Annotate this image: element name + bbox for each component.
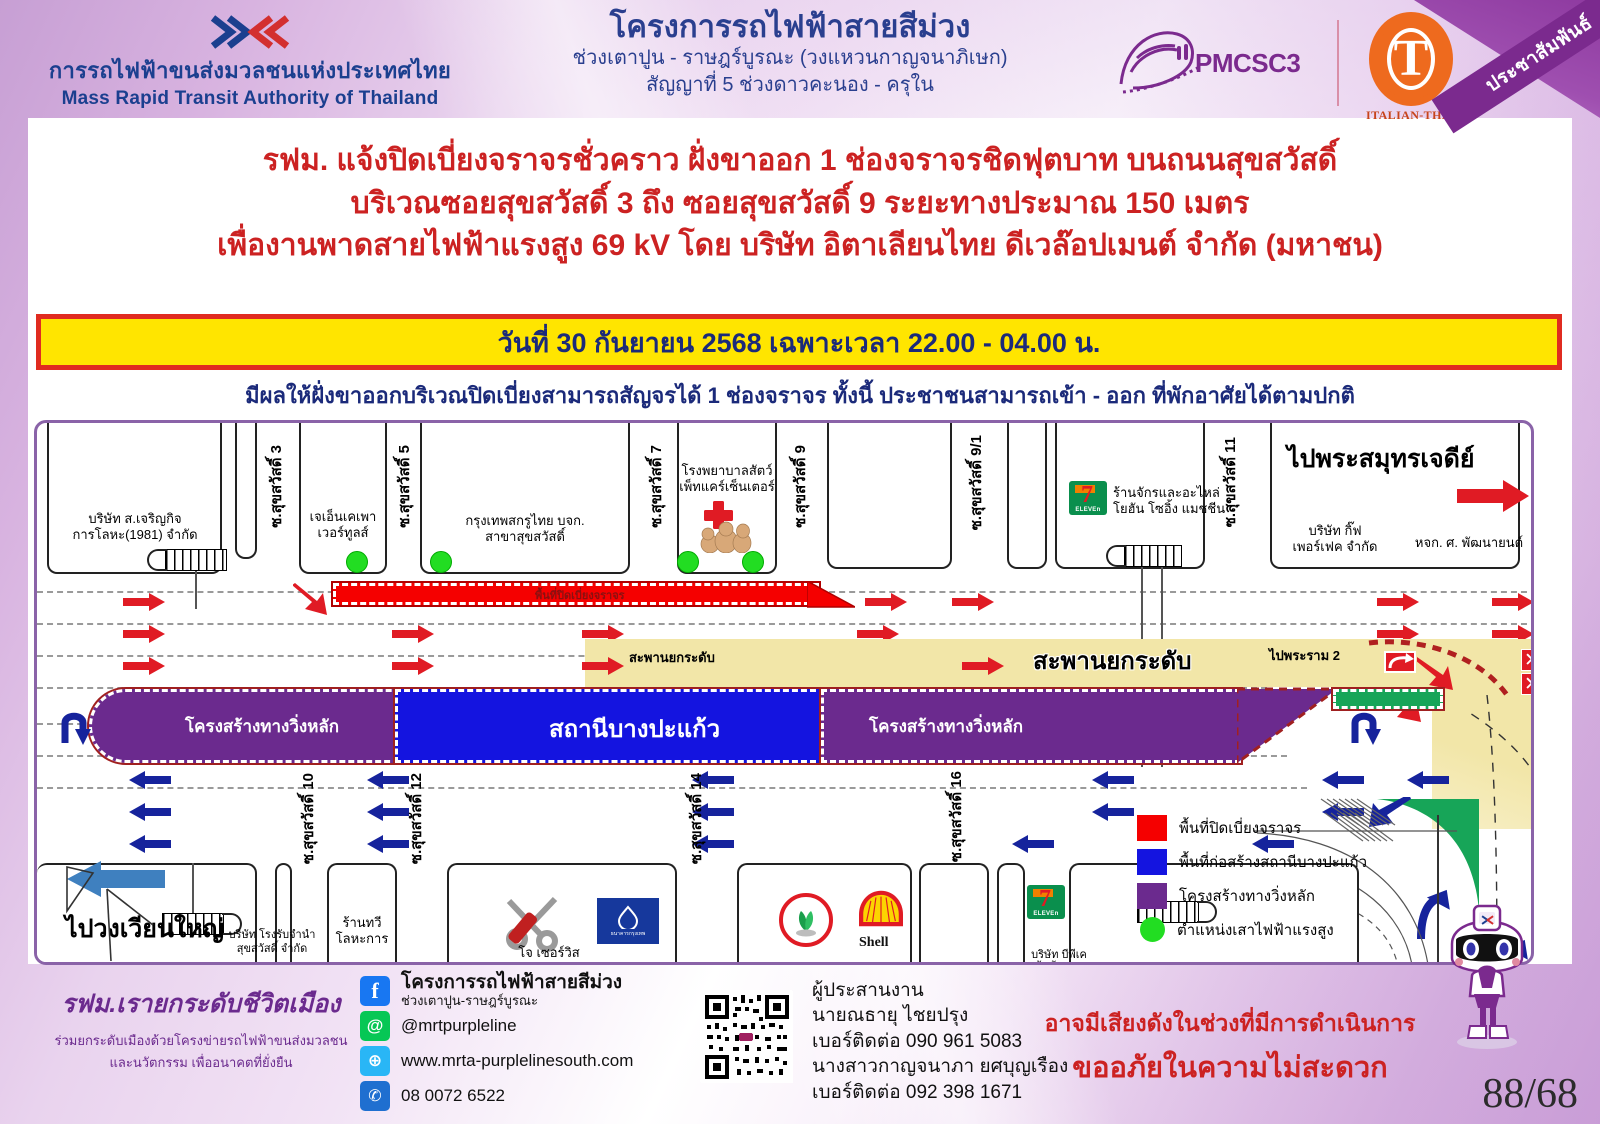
soi-label-bottom: ซ.สุขสวัสดิ์ 14 xyxy=(685,773,709,864)
date-banner: วันที่ 30 กันยายน 2568 เฉพาะเวลา 22.00 -… xyxy=(36,314,1562,370)
map-corner-lines xyxy=(53,863,263,965)
green-structure-band xyxy=(1333,689,1443,709)
mrta-name-th: การรถไฟฟ้าขนส่งมวลชนแห่งประเทศไทย xyxy=(40,53,460,88)
project-title: โครงการรถไฟฟ้าสายสีม่วง xyxy=(470,10,1110,45)
announcement-block: รฟม. แจ้งปิดเบี่ยงจราจรชั่วคราว ฝั่งขาออ… xyxy=(0,140,1600,268)
shop-label-top: หจก. ศ. พัฒนายนต์ xyxy=(1389,535,1534,551)
traffic-arrow-right xyxy=(123,625,165,643)
shop-label-top: โรงพยาบาลสัตว์ เพ็ทแคร์เซ็นเตอร์ xyxy=(669,463,785,496)
legend-swatch-power-pole xyxy=(1140,917,1165,942)
shop-label-bottom: ร้านทวี โลหะการ xyxy=(327,915,397,948)
project-section: ช่วงเตาปูน - ราษฎร์บูรณะ (วงแหวนกาญจนาภิ… xyxy=(470,45,1110,72)
soi-label-top: ซ.สุขสวัสดิ์ 3 xyxy=(265,445,289,528)
qr-code xyxy=(700,990,792,1082)
phone-text: 08 0072 6522 xyxy=(401,1086,505,1106)
shop-label-bottom: บริษัท บีพีเค พริ้นติ้ง จำกัด xyxy=(999,905,1119,965)
facebook-line-1: โครงการรถไฟฟ้าสายสีม่วง xyxy=(401,972,622,994)
pmcsc-logo-block: PMCSC3 xyxy=(1115,18,1330,108)
shop-label-top: ร้านจักรและอะไหล่ โยฮัน โซอิ้ง แมชชีน xyxy=(1113,485,1253,518)
soi-label-top: ซ.สุขสวัสดิ์ 5 xyxy=(393,445,417,528)
soi-label-bottom: ซ.สุขสวัสดิ์ 10 xyxy=(297,773,321,864)
apology-line-2: ขออภัยในความไม่สะดวก xyxy=(1030,1044,1430,1090)
facebook-icon: f xyxy=(360,976,390,1006)
header: การรถไฟฟ้าขนส่งมวลชนแห่งประเทศไทย Mass R… xyxy=(0,0,1600,124)
mrta-logo-block: การรถไฟฟ้าขนส่งมวลชนแห่งประเทศไทย Mass R… xyxy=(40,14,460,110)
soi-label-top: ซ.สุขสวัสดิ์ 7 xyxy=(645,445,669,528)
phone-icon: ✆ xyxy=(360,1081,390,1111)
legend-text: พื้นที่ปิดเบี่ยงจราจร xyxy=(1179,816,1301,840)
sub-note: มีผลให้ฝั่งขาออกบริเวณปิดเบี่ยงสามารถสัญ… xyxy=(0,378,1600,413)
line-text: @mrtpurpleline xyxy=(401,1016,517,1036)
traffic-arrow-right xyxy=(952,593,994,611)
shop-label-top: บริษัท ส.เจริญกิจ การโลหะ(1981) จำกัด xyxy=(55,511,215,544)
traffic-arrow-right xyxy=(962,657,1004,675)
mrta-name-en: Mass Rapid Transit Authority of Thailand xyxy=(40,88,460,110)
u-turn-arrow-icon xyxy=(1347,709,1381,747)
traffic-arrow-left xyxy=(1092,803,1134,821)
legend-text: ตำแหน่งเสาไฟฟ้าแรงสูง xyxy=(1177,918,1334,942)
traffic-arrow-right xyxy=(392,657,434,675)
shop-line-2: เพอร์เฟค จำกัด xyxy=(1275,539,1395,555)
fuel-station-sign-icon xyxy=(777,891,835,949)
legend-swatch-viaduct xyxy=(1137,883,1167,909)
traffic-arrow-left xyxy=(1012,835,1054,853)
parcel-bottom xyxy=(919,863,989,965)
slogan-sub-2: และนวัตกรรม เพื่ออนาคตที่ยั่งยืน xyxy=(36,1052,366,1074)
announcement-line-2: บริเวณซอยสุขสวัสดิ์ 3 ถึง ซอยสุขสวัสดิ์ … xyxy=(0,183,1600,226)
globe-icon: ⊕ xyxy=(360,1046,390,1076)
power-pole-marker xyxy=(677,551,699,573)
shop-line-2: การโลหะ(1981) จำกัด xyxy=(55,527,215,543)
traffic-arrow-right xyxy=(865,593,907,611)
traffic-arrow-left xyxy=(367,835,409,853)
soi-label-bottom: ซ.สุขสวัสดิ์ 16 xyxy=(945,771,969,862)
legend-text: พื้นที่ก่อสร้างสถานีบางปะแก้ว xyxy=(1179,850,1367,874)
parcel-top xyxy=(1007,420,1047,569)
closure-zone-label: พื้นที่ปิดเบี่ยงจราจร xyxy=(535,586,625,604)
legend-item: ตำแหน่งเสาไฟฟ้าแรงสูง xyxy=(1137,917,1367,942)
pmcsc-label: PMCSC3 xyxy=(1195,48,1300,79)
legend-text: โครงสร้างทางวิ่งหลัก xyxy=(1179,884,1315,908)
traffic-arrow-right xyxy=(1377,593,1419,611)
announcement-line-1: รฟม. แจ้งปิดเบี่ยงจราจรชั่วคราว ฝั่งขาออ… xyxy=(0,140,1600,183)
power-pole-marker xyxy=(742,551,764,573)
legend-item: พื้นที่ก่อสร้างสถานีบางปะแก้ว xyxy=(1137,849,1367,875)
shell-logo-icon xyxy=(855,889,907,933)
traffic-arrow-right xyxy=(123,657,165,675)
shop-line-2: เพ็ทแคร์เซ็นเตอร์ xyxy=(669,479,785,495)
veterinary-hospital-icon xyxy=(687,501,767,553)
soi-label-top: ซ.สุขสวัสดิ์ 9 xyxy=(789,445,813,528)
apology-block: อาจมีเสียงดังในช่วงที่มีการดำเนินการ ขออ… xyxy=(1030,1006,1430,1090)
shop-line-1: เจเอ็นเคเพา xyxy=(299,509,387,525)
traffic-arrow-left xyxy=(367,803,409,821)
shop-line-1: โรงพยาบาลสัตว์ xyxy=(669,463,785,479)
shop-line-2: โยฮัน โซอิ้ง แมชชีน xyxy=(1113,501,1253,517)
mascot-icon xyxy=(1434,892,1540,1052)
shop-line-2: โลหะการ xyxy=(327,931,397,947)
itd-letter: T xyxy=(1394,33,1429,85)
crosswalk-stem xyxy=(195,571,197,609)
lane-line xyxy=(37,623,1534,625)
viaduct-label-left: โครงสร้างทางวิ่งหลัก xyxy=(185,713,339,740)
map-canvas: ซ.สุขสวัสดิ์ 3 ซ.สุขสวัสดิ์ 5 ซ.สุขสวัสด… xyxy=(37,423,1531,962)
station-label: สถานีบางปะแก้ว xyxy=(549,709,720,748)
social-row-line[interactable]: @ @mrtpurpleline xyxy=(360,1009,690,1042)
crosswalk-ramp xyxy=(1106,545,1126,567)
mrta-logo-icon xyxy=(40,14,460,50)
bangkok-bank-icon: ธนาคารกรุงเทพ xyxy=(597,898,659,944)
power-pole-marker xyxy=(346,551,368,573)
soi-label-bottom: ซ.สุขสวัสดิ์ 12 xyxy=(405,773,429,864)
shop-line-1: โจ เซอร์วิส xyxy=(509,945,589,961)
line-icon: @ xyxy=(360,1011,390,1041)
shop-line-1: บริษัท ส.เจริญกิจ xyxy=(55,511,215,527)
shop-label-top: บริษัท กิ๊ฟ เพอร์เฟค จำกัด xyxy=(1275,523,1395,556)
traffic-arrow-right xyxy=(123,593,165,611)
page-number: 88/68 xyxy=(1482,1070,1578,1118)
traffic-arrow-left xyxy=(1407,771,1449,789)
bridge-label: สะพานยกระดับ xyxy=(1033,641,1191,680)
shop-line-2: เวอร์ทูลส์ xyxy=(299,525,387,541)
project-title-block: โครงการรถไฟฟ้าสายสีม่วง ช่วงเตาปูน - ราษ… xyxy=(470,10,1110,99)
social-row-facebook[interactable]: f โครงการรถไฟฟ้าสายสีม่วง ช่วงเตาปูน-ราษ… xyxy=(360,974,690,1007)
legend-item: โครงสร้างทางวิ่งหลัก xyxy=(1137,883,1367,909)
traffic-arrow-right xyxy=(392,625,434,643)
social-row-website[interactable]: ⊕ www.mrta-purplelinesouth.com xyxy=(360,1044,690,1077)
parcel-top xyxy=(827,420,952,569)
viaduct-label-right: โครงสร้างทางวิ่งหลัก xyxy=(869,713,1023,740)
shop-line-2: พริ้นติ้ง จำกัด xyxy=(999,963,1119,965)
crosswalk-ramp xyxy=(147,549,167,571)
contact-title: ผู้ประสานงาน xyxy=(812,978,1068,1003)
seven-eleven-icon: 7ELEVEn xyxy=(1069,481,1107,515)
date-banner-text: วันที่ 30 กันยายน 2568 เฉพาะเวลา 22.00 -… xyxy=(498,321,1101,364)
facebook-text: โครงการรถไฟฟ้าสายสีม่วง ช่วงเตาปูน-ราษฎร… xyxy=(401,972,622,1009)
header-divider xyxy=(1337,20,1339,106)
shop-line-1: บริษัท กิ๊ฟ xyxy=(1275,523,1395,539)
map-legend: พื้นที่ปิดเบี่ยงจราจร พื้นที่ก่อสร้างสถา… xyxy=(1137,815,1367,950)
soi-3-gap xyxy=(235,420,257,559)
traffic-arrow-left xyxy=(1092,771,1134,789)
traffic-arrow-left xyxy=(1322,771,1364,789)
legend-swatch-station xyxy=(1137,849,1167,875)
shop-line-1: บริษัท บีพีเค xyxy=(999,949,1119,963)
shop-line-2: สาขาสุขสวัสดิ์ xyxy=(430,529,620,545)
power-pole-marker xyxy=(430,551,452,573)
website-text: www.mrta-purplelinesouth.com xyxy=(401,1051,633,1071)
bridge-label-small: สะพานยกระดับ xyxy=(629,647,715,668)
traffic-arrow-left xyxy=(129,771,171,789)
facebook-line-2: ช่วงเตาปูน-ราษฎร์บูรณะ xyxy=(401,994,622,1009)
rama2-destination-label: ไปพระราม 2 xyxy=(1269,645,1340,666)
apology-line-1: อาจมีเสียงดังในช่วงที่มีการดำเนินการ xyxy=(1030,1006,1430,1042)
announcement-line-3: เพื่องานพาดสายไฟฟ้าแรงสูง 69 kV โดย บริษ… xyxy=(0,225,1600,268)
traffic-arrow-right xyxy=(582,657,624,675)
shop-line-1: กรุงเทพสกรูไทย บจก. xyxy=(430,513,620,529)
shop-label-top: กรุงเทพสกรูไทย บจก. สาขาสุขสวัสดิ์ xyxy=(430,513,620,546)
crosswalk-icon xyxy=(165,549,227,571)
destination-right-label: ไปพระสมุทรเจดีย์ xyxy=(1287,439,1475,479)
slogan-block: รฟม.เรายกระดับชีวิตเมือง ร่วมยกระดับเมือ… xyxy=(36,984,366,1074)
bank-label: ธนาคารกรุงเทพ xyxy=(611,930,646,938)
auto-service-icon xyxy=(499,891,571,953)
footer: รฟม.เรายกระดับชีวิตเมือง ร่วมยกระดับเมือ… xyxy=(0,966,1600,1124)
social-links: f โครงการรถไฟฟ้าสายสีม่วง ช่วงเตาปูน-ราษ… xyxy=(360,974,690,1114)
shop-line-1: ร้านจักรและอะไหล่ xyxy=(1113,485,1253,501)
diversion-arrow-icon xyxy=(293,579,335,619)
slogan-sub-1: ร่วมยกระดับเมืองด้วยโครงข่ายรถไฟฟ้าขนส่ง… xyxy=(36,1030,366,1052)
traffic-arrow-right xyxy=(1492,593,1534,611)
legend-swatch-closure xyxy=(1137,815,1167,841)
shop-label-top: เจเอ็นเคเพา เวอร์ทูลส์ xyxy=(299,509,387,542)
crosswalk-icon xyxy=(1124,545,1182,567)
parcel-top xyxy=(299,420,387,574)
shop-line-1: ร้านทวี xyxy=(327,915,397,931)
itd-ring-icon: T xyxy=(1369,12,1453,106)
parcel-top xyxy=(420,420,630,574)
sub-note-text: มีผลให้ฝั่งขาออกบริเวณปิดเบี่ยงสามารถสัญ… xyxy=(245,383,1355,408)
shop-line-1: หจก. ศ. พัฒนายนต์ xyxy=(1389,535,1534,551)
traffic-arrow-left xyxy=(129,835,171,853)
legend-item: พื้นที่ปิดเบี่ยงจราจร xyxy=(1137,815,1367,841)
u-turn-arrow-icon xyxy=(57,707,91,747)
viaduct-taper xyxy=(1237,686,1342,766)
slogan-main: รฟม.เรายกระดับชีวิตเมือง xyxy=(36,984,366,1024)
social-row-phone[interactable]: ✆ 08 0072 6522 xyxy=(360,1079,690,1112)
traffic-arrow-left xyxy=(129,803,171,821)
project-contract: สัญญาที่ 5 ช่วงดาวคะนอง - ครุใน xyxy=(470,72,1110,99)
closure-taper xyxy=(807,581,855,609)
shell-label: Shell xyxy=(859,935,889,951)
soi-label-top: ซ.สุขสวัสดิ์ 9/1 xyxy=(965,435,989,530)
traffic-arrow-left xyxy=(367,771,409,789)
destination-right-arrow-icon xyxy=(1457,479,1529,513)
traffic-diversion-map: ซ.สุขสวัสดิ์ 3 ซ.สุขสวัสดิ์ 5 ซ.สุขสวัสด… xyxy=(34,420,1534,965)
shop-label-bottom: โจ เซอร์วิส xyxy=(509,945,589,961)
